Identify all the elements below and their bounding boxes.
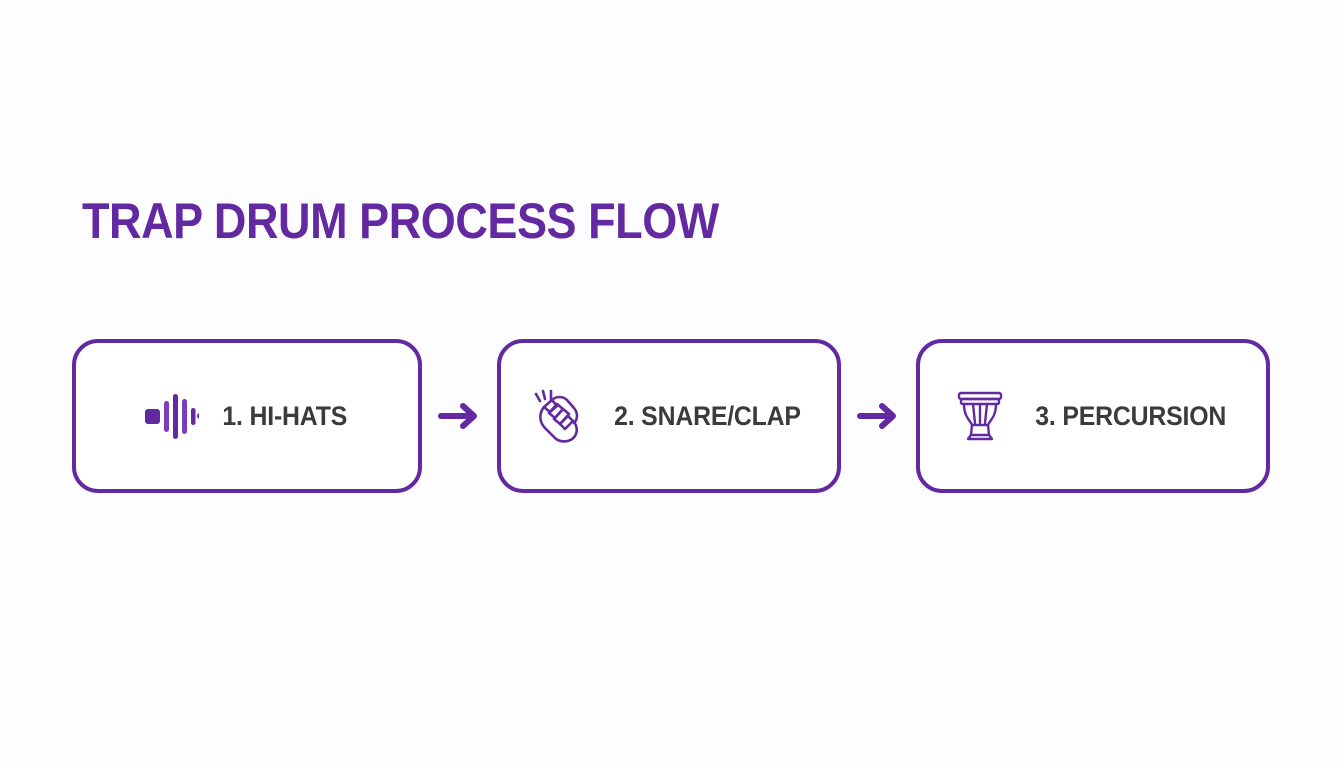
step-box-percursion[interactable]: 3. PERCURSION: [916, 339, 1270, 493]
step-label-snare-clap: 2. SNARE/CLAP: [614, 401, 801, 432]
step-box-snare-clap[interactable]: 2. SNARE/CLAP: [497, 339, 841, 493]
djembe-drum-icon: [951, 387, 1009, 445]
slide-canvas: TRAP DRUM PROCESS FLOW 1. HI-HATS: [0, 0, 1344, 768]
step-label-hi-hats: 1. HI-HATS: [223, 401, 348, 432]
step-box-hi-hats[interactable]: 1. HI-HATS: [72, 339, 422, 493]
arrow-right-icon: [436, 396, 484, 436]
step-label-percursion: 3. PERCURSION: [1036, 401, 1227, 432]
clapping-hands-icon: [530, 387, 588, 445]
sound-wave-icon: [141, 387, 199, 445]
arrow-right-icon: [855, 396, 903, 436]
page-title: TRAP DRUM PROCESS FLOW: [82, 192, 719, 250]
process-flow-row: 1. HI-HATS: [72, 339, 1270, 493]
